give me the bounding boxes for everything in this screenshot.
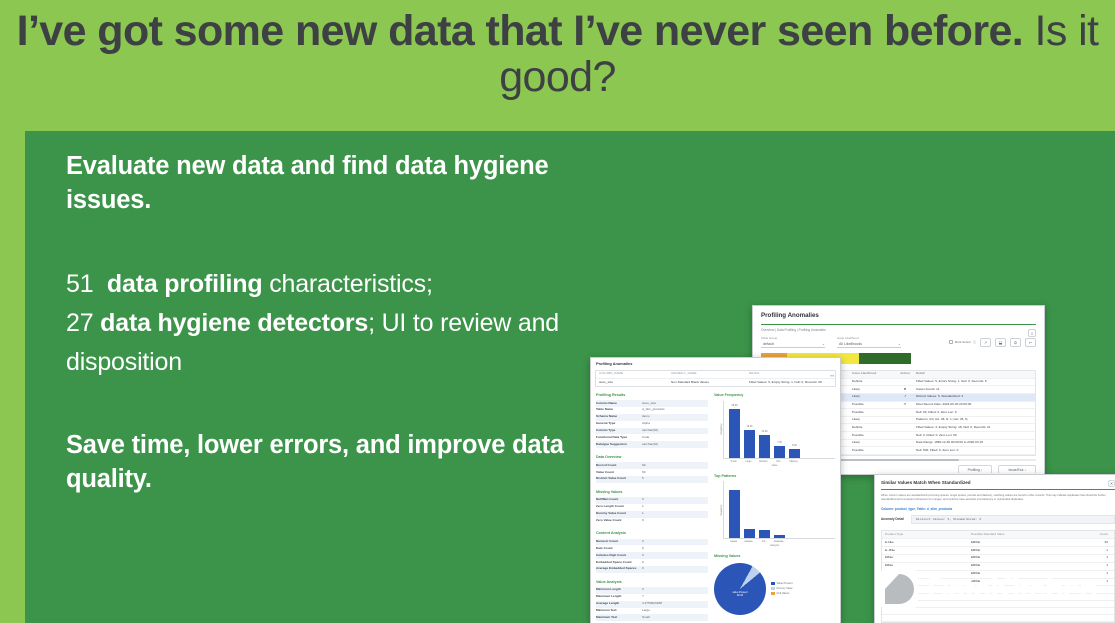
- metric-row: Record Count69: [596, 462, 708, 469]
- datakitchen-wordmark: DataKitchen: [927, 571, 1097, 607]
- stat-1-number: 51: [66, 270, 93, 298]
- bar: 7.00: [774, 446, 785, 458]
- legend-swatch: [771, 587, 775, 591]
- metric-row: Average Embedded Spaces0: [596, 566, 708, 573]
- stat-2-number: 27: [66, 309, 93, 337]
- section-title: Content Analysis: [596, 531, 708, 536]
- refresh-button[interactable]: ↩: [1025, 338, 1036, 347]
- copy-heading: Evaluate new data and find data hygiene …: [66, 150, 566, 218]
- chart-top-patterns: Top Patterns frequency AaaaaAaaaaaA/AAaa…: [714, 474, 835, 548]
- filter-value[interactable]: All Likelihoods⌄: [837, 341, 901, 348]
- bar: 13.00: [759, 435, 770, 457]
- cell-action[interactable]: ↗: [894, 395, 916, 399]
- legend-swatch: [771, 592, 775, 596]
- section-title: Missing Values: [596, 490, 708, 495]
- bar: [759, 530, 770, 538]
- cell-likelihood: Likely: [852, 418, 894, 422]
- cell-detail: Most Recent Date: 2024-06-30 20:00:00: [916, 403, 1033, 407]
- cell-likelihood: Definite: [852, 426, 894, 430]
- metric-value: 7: [642, 595, 708, 599]
- chevron-down-icon: ⌄: [822, 342, 825, 346]
- multi-select-label: Multi-Select: [955, 341, 971, 345]
- cell-standard-value: EBIKE: [971, 541, 1061, 545]
- metric-label: Dummy Value Count: [596, 512, 642, 516]
- tab-issue-examples[interactable]: Issue/Exa ↓: [998, 465, 1036, 473]
- cell-likelihood: Definite: [852, 380, 894, 384]
- metric-value: 69: [642, 471, 708, 475]
- cell-action[interactable]: ⟳: [894, 403, 916, 407]
- cell-detail: Cases Found: 11: [916, 388, 1033, 392]
- copy-stats: 51 data profiling characteristics; 27 da…: [66, 265, 566, 382]
- cell-detail: Null: 69, Filled: 0, Zero Len: 0: [916, 411, 1033, 415]
- metric-label: Schema Name: [596, 415, 642, 419]
- metric-value: 4.2753623188: [642, 602, 708, 606]
- metric-value: 0: [642, 567, 708, 571]
- x-tick-label: Small: [728, 460, 739, 463]
- cell-action[interactable]: [894, 434, 916, 438]
- cell-count: 1: [1061, 556, 1111, 560]
- metric-row: Schema Namedemo: [596, 414, 708, 421]
- section-title: Value Analysis: [596, 580, 708, 585]
- table-row[interactable]: E-bikeEBIKE26: [882, 539, 1114, 547]
- cell-likelihood: Likely: [852, 395, 894, 399]
- x-tick-labels: AaaaaAaaaaaA/AAaaaaaa: [723, 539, 835, 543]
- y-axis-label: frequency: [720, 424, 723, 435]
- cell-standard-value: EBIKE: [971, 549, 1061, 553]
- metric-value: 0: [642, 519, 708, 523]
- column-header: COLUMN_NAME: [599, 372, 671, 376]
- bar-value-label: 13.00: [762, 430, 768, 433]
- section-profiling-results: Profiling Results Column Namestore_sizeT…: [596, 393, 708, 448]
- metric-label: Table Name: [596, 408, 642, 412]
- cell-product-type: E--Bike: [885, 549, 971, 553]
- anomaly-summary-table: COLUMN_NAME ANOMALY_NAME DETAIL store_si…: [595, 370, 836, 387]
- title-divider: [761, 324, 1036, 325]
- table-row[interactable]: EBike'EBIKE1: [882, 555, 1114, 563]
- legend-item: Dummy Value: [771, 587, 793, 591]
- cell-anomaly-name: Non-Standard Blank Values: [671, 381, 749, 385]
- legend-label: Value Present: [777, 582, 793, 585]
- similar-window-title: Similar Values Match When Standardized: [881, 480, 1115, 486]
- cell-detail: Filled Values: 3, Empty String: 18, Null…: [916, 426, 1033, 430]
- bar: [774, 535, 785, 538]
- metric-value: d_slim_products: [642, 408, 708, 412]
- stat-2-bold: data hygiene detectors: [100, 309, 368, 337]
- metric-label: Datatype Suggestion: [596, 443, 642, 447]
- metric-row: Value Count69: [596, 469, 708, 476]
- metric-value: Code: [642, 436, 708, 440]
- cell-action[interactable]: ⧉: [894, 388, 916, 392]
- table-header-row: Product Type Possible Standard Value Cou…: [882, 531, 1114, 539]
- info-icon[interactable]: ⓘ: [973, 341, 976, 345]
- cell-standard-value: EBIKE: [971, 564, 1061, 568]
- metric-row: Datatype Suggestionvarchar(20): [596, 441, 708, 448]
- cell-detail: Date Range: 1899-12-30 00:00:00 to 2020-…: [916, 441, 1033, 445]
- metric-value: 0: [642, 561, 708, 565]
- checkbox-icon[interactable]: [949, 340, 953, 344]
- table-header-row: COLUMN_NAME ANOMALY_NAME DETAIL: [596, 371, 835, 379]
- chart-title: Missing Values: [714, 554, 835, 559]
- metric-label: Numeric Count: [596, 540, 642, 544]
- pie-center-label: value Present 92.00: [732, 591, 747, 597]
- metric-value: 0: [642, 540, 708, 544]
- column-header: ANOMALY_NAME: [671, 372, 749, 376]
- x-axis-label: value: [714, 464, 835, 467]
- section-title: Data Overview: [596, 455, 708, 460]
- table-row-empty: [882, 608, 1114, 615]
- cell-likelihood: Likely: [852, 388, 894, 392]
- metric-row: Date Count0: [596, 545, 708, 552]
- table-row[interactable]: store_size Non-Standard Blank Values Fil…: [596, 379, 835, 386]
- headline-bold: I’ve got some new data that I’ve never s…: [17, 7, 1024, 55]
- metric-label: Zero Length Count: [596, 505, 642, 509]
- metric-value: 69: [642, 464, 708, 468]
- metric-row: Numeric Count0: [596, 539, 708, 546]
- cell-action[interactable]: [894, 380, 916, 384]
- metric-label: Maximum Text: [596, 616, 642, 620]
- filter-value[interactable]: default⌄: [761, 341, 825, 348]
- cell-detail: Patterns: 23 | AA: 48, N: 1 | AA: 45, N-: [916, 418, 1033, 422]
- column-header: DETAIL: [749, 372, 832, 376]
- column-header: Count: [1061, 533, 1111, 537]
- metric-row: Zero Value Count0: [596, 518, 708, 525]
- cell-detail: Null: 0, Filled: 0, Zero Len: 69: [916, 434, 1033, 438]
- metric-value: 3: [642, 588, 708, 592]
- cell-product-type: EBike': [885, 556, 971, 560]
- cell-product-type: E-bike: [885, 541, 971, 545]
- cell-action[interactable]: [894, 426, 916, 430]
- metric-row: Embedded Space Count0: [596, 559, 708, 566]
- datakitchen-logo: DataKitchen: [880, 570, 1097, 608]
- metric-value: 1: [642, 512, 708, 516]
- metric-row: Table Named_slim_products: [596, 407, 708, 414]
- cell-count: 26: [1061, 541, 1111, 545]
- legend-label: Dummy Value: [777, 587, 793, 590]
- x-tick-label: N/A: [773, 460, 784, 463]
- metric-row: Includes Digit Count0: [596, 552, 708, 559]
- x-tick-label: Large: [743, 460, 754, 463]
- column-table-link[interactable]: Column: product_type, Table: d_slim_prod…: [875, 502, 1115, 511]
- bar-value-label: 5.00: [792, 444, 797, 447]
- table-row-empty: [882, 615, 1114, 622]
- cell-likelihood: Possible: [852, 403, 894, 407]
- metric-label: Null/Nan Count: [596, 498, 642, 502]
- expand-button[interactable]: ↗: [980, 338, 991, 347]
- metric-value: varchar(20): [642, 429, 708, 433]
- metric-row: Average Length4.2753623188: [596, 601, 708, 608]
- bar: [729, 490, 740, 538]
- metric-value: 0: [642, 554, 708, 558]
- chart-title: Top Patterns: [714, 474, 835, 479]
- filter-issue-likelihood[interactable]: Issue Likelihood All Likelihoods⌄: [837, 337, 901, 348]
- chart-missing-values-pie: Missing Values value Present 92.00 Value…: [714, 554, 835, 615]
- table-row[interactable]: E--BikeEBIKE1: [882, 547, 1114, 555]
- similar-description: When column values are standardized (rem…: [875, 494, 1115, 502]
- cell-detail: Null: 500, Filled: 0, Zero Len: 0: [916, 449, 1033, 453]
- bar-chart-plot: frequency 28.0016.0013.007.005.00: [723, 401, 835, 459]
- profiling-results-window[interactable]: Profiling Anomalies ▔ COLUMN_NAME ANOMAL…: [590, 357, 841, 623]
- filter-button[interactable]: ⛭: [1010, 338, 1021, 347]
- chart-title: Value Frequency: [714, 393, 835, 398]
- profiling-anomalies-panel-title: Profiling Anomalies: [596, 362, 835, 367]
- column-header: Detail: [916, 372, 1033, 376]
- metric-value: 5: [642, 477, 708, 481]
- bar-chart-plot: frequency: [723, 481, 835, 539]
- metric-row: Minimum TextLarge: [596, 608, 708, 615]
- metric-label: Embedded Space Count: [596, 561, 642, 565]
- x-tick-label: Missing: [788, 460, 799, 463]
- section-missing-values: Missing Values Null/Nan Count0Zero Lengt…: [596, 490, 708, 525]
- pie-chart: value Present 92.00: [714, 563, 766, 615]
- metric-value: store_size: [642, 402, 708, 406]
- metric-row: Maximum Length7: [596, 594, 708, 601]
- x-tick-label: A/A: [758, 540, 769, 543]
- bar-value-label: 28.00: [732, 404, 738, 407]
- profiling-charts-column: Value Frequency frequency 28.0016.0013.0…: [714, 393, 835, 623]
- metric-row: Distinct Value Count5: [596, 476, 708, 483]
- cell-product-type: EBike: [885, 564, 971, 568]
- metric-label: Zero Value Count: [596, 519, 642, 523]
- column-header: Product Type: [885, 533, 971, 537]
- filter-selected-text: default: [763, 342, 774, 346]
- section-title: Profiling Results: [596, 393, 708, 398]
- cell-column-name: store_size: [599, 381, 671, 385]
- metric-row: Column Typevarchar(20): [596, 428, 708, 435]
- bar: [744, 529, 755, 539]
- profiling-metrics-column: Profiling Results Column Namestore_sizeT…: [596, 393, 708, 623]
- metric-label: Column Type: [596, 429, 642, 433]
- bar-value-label: 16.00: [747, 425, 753, 428]
- datakitchen-mark-icon: [880, 570, 918, 608]
- legend-item: Null Values: [771, 592, 793, 596]
- metric-label: Column Name: [596, 402, 642, 406]
- stat-1-bold: data profiling: [107, 270, 263, 298]
- stat-1-rest: characteristics;: [262, 270, 432, 298]
- cell-count: 1: [1061, 549, 1111, 553]
- content-panel: Evaluate new data and find data hygiene …: [25, 131, 1115, 623]
- x-tick-label: Aaaaa: [728, 540, 739, 543]
- title-divider: [881, 489, 1115, 490]
- filter-table-group[interactable]: Table Group default⌄: [761, 337, 825, 348]
- bar: 28.00: [729, 409, 740, 457]
- section-value-analysis: Value Analysis Minimum Length3Maximum Le…: [596, 580, 708, 623]
- x-tick-label: Medium: [758, 460, 769, 463]
- column-header: Action: [894, 372, 916, 376]
- page-headline: I’ve got some new data that I’ve never s…: [0, 8, 1115, 101]
- bar: 16.00: [744, 430, 755, 458]
- metric-value: 1: [642, 505, 708, 509]
- metric-label: General Type: [596, 422, 642, 426]
- column-header: Possible Standard Value: [971, 533, 1061, 537]
- x-tick-labels: SmallLargeMediumN/AMissing: [723, 459, 835, 463]
- cell-standard-value: EBIKE: [971, 556, 1061, 560]
- bar-value-label: 7.00: [777, 441, 782, 444]
- chart-value-frequency: Value Frequency frequency 28.0016.0013.0…: [714, 393, 835, 467]
- close-icon[interactable]: ✕: [1108, 480, 1115, 487]
- cell-detail: Filled Values: 5, Errors String: 1, Null…: [916, 380, 1033, 384]
- metric-row: Maximum TextSmall: [596, 614, 708, 621]
- x-tick-label: Aaaaaaa: [773, 540, 784, 543]
- metric-label: Minimum Text: [596, 609, 642, 613]
- metric-row: Dummy Value Count1: [596, 511, 708, 518]
- metric-label: Value Count: [596, 471, 642, 475]
- metric-label: Functional Data Type: [596, 436, 642, 440]
- metric-label: Includes Digit Count: [596, 554, 642, 558]
- anomaly-detail-value: Distinct Values: 5, Standardized: 3: [911, 515, 1115, 525]
- legend-swatch: [771, 582, 775, 586]
- section-content-analysis: Content Analysis Numeric Count0Date Coun…: [596, 531, 708, 572]
- x-axis-label: category: [714, 544, 835, 547]
- metric-label: Record Count: [596, 464, 642, 468]
- cell-detail: Distinct Values: 5, Standardized: 3: [916, 395, 1033, 399]
- cell-count: 1: [1061, 564, 1111, 568]
- metric-label: Average Embedded Spaces: [596, 567, 642, 571]
- metric-value: 0: [642, 547, 708, 551]
- export-button[interactable]: ⬓: [995, 338, 1006, 347]
- metric-row: Null/Nan Count0: [596, 497, 708, 504]
- legend-item: Value Present: [771, 582, 793, 586]
- metric-label: Average Length: [596, 602, 642, 606]
- download-icon[interactable]: ⇩: [1028, 329, 1036, 337]
- metric-row: Zero Length Count1: [596, 504, 708, 511]
- metric-value: varchar(20): [642, 443, 708, 447]
- filter-selected-text: All Likelihoods: [839, 342, 862, 346]
- metric-label: Minimum Length: [596, 588, 642, 592]
- chevron-down-icon: ⌄: [898, 342, 901, 346]
- cell-detail: Filled Values: 5, Empty String: 1, Null:…: [749, 381, 832, 385]
- cell-likelihood: Possible: [852, 449, 894, 453]
- anomalies-window-title: Profiling Anomalies: [761, 312, 1036, 320]
- bar: 5.00: [789, 449, 800, 458]
- tab-profiling[interactable]: Profiling ↓: [958, 465, 993, 473]
- legend-label: Null Values: [777, 592, 790, 595]
- pie-legend: Value PresentDummy ValueNull Values: [771, 582, 793, 597]
- metric-label: Date Count: [596, 547, 642, 551]
- breadcrumb: Overview | Data Profiling | Profiling An…: [761, 328, 1036, 332]
- cell-likelihood: Possible: [852, 411, 894, 415]
- metric-row: Minimum Length3: [596, 587, 708, 594]
- metric-value: Large: [642, 609, 708, 613]
- cell-action[interactable]: [894, 418, 916, 422]
- metric-label: Distinct Value Count: [596, 477, 642, 481]
- cell-action[interactable]: [894, 411, 916, 415]
- cell-likelihood: Possible: [852, 434, 894, 438]
- copy-closing: Save time, lower errors, and improve dat…: [66, 429, 566, 497]
- cell-likelihood: Likely: [852, 441, 894, 445]
- metric-row: Column Namestore_size: [596, 400, 708, 407]
- metric-value: Alpha: [642, 422, 708, 426]
- section-data-overview: Data Overview Record Count69Value Count6…: [596, 455, 708, 483]
- summary-segment-possible: [859, 353, 912, 364]
- collapse-icon[interactable]: ▔: [830, 376, 834, 382]
- anomaly-detail-label: Anomaly Detail: [881, 517, 911, 521]
- x-tick-label: Aaaaaa: [743, 540, 754, 543]
- copy-block: Evaluate new data and find data hygiene …: [66, 150, 566, 497]
- metric-value: Small: [642, 616, 708, 620]
- metric-label: Maximum Length: [596, 595, 642, 599]
- cell-action[interactable]: [894, 441, 916, 445]
- y-axis-label: frequency: [720, 504, 723, 515]
- cell-action[interactable]: [894, 449, 916, 453]
- metric-row: Functional Data TypeCode: [596, 434, 708, 441]
- multi-select-toggle[interactable]: Multi-Selectⓘ: [949, 340, 976, 344]
- metric-row: General TypeAlpha: [596, 421, 708, 428]
- metric-value: 0: [642, 498, 708, 502]
- metric-value: demo: [642, 415, 708, 419]
- column-header: Issue Likelihood: [852, 372, 894, 376]
